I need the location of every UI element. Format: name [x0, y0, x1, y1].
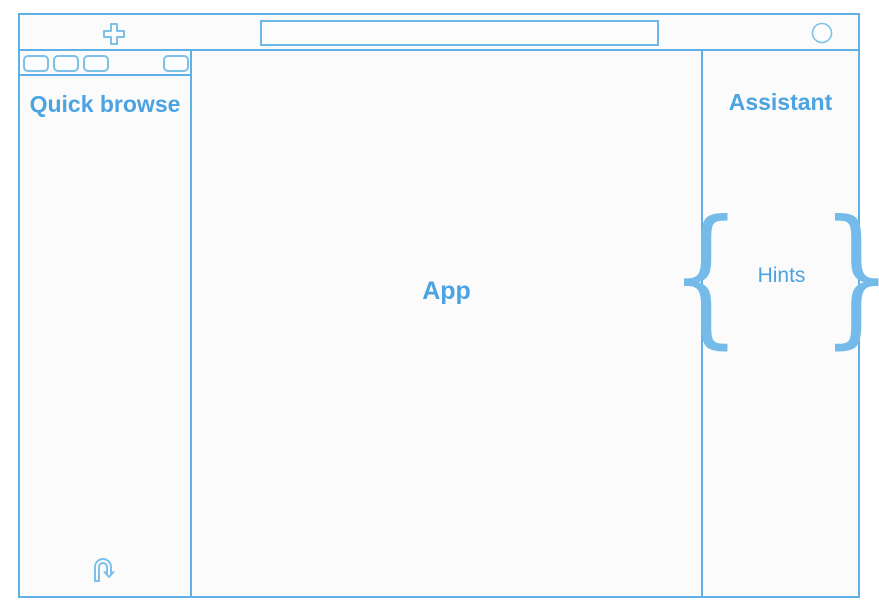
assistant-panel: Assistant { Hints }	[703, 51, 858, 596]
sidebar-toolbar	[20, 51, 190, 76]
undo-uturn-arrow-icon[interactable]	[90, 554, 122, 584]
top-bar	[20, 15, 858, 51]
sidebar-tool-1-button[interactable]	[23, 55, 49, 72]
sidebar-tool-4-button[interactable]	[163, 55, 189, 72]
sidebar-panel: Quick browse	[20, 51, 192, 596]
plus-icon[interactable]	[102, 22, 126, 46]
window-body: Quick browse App Assistant { Hints	[20, 51, 858, 596]
hints-label: Hints	[754, 264, 810, 288]
sidebar-tool-3-button[interactable]	[83, 55, 109, 72]
sidebar-title: Quick browse	[20, 89, 190, 119]
assistant-title: Assistant	[703, 89, 858, 116]
hints-group: { Hints }	[713, 206, 850, 346]
sidebar-tool-2-button[interactable]	[53, 55, 79, 72]
app-canvas[interactable]: App	[192, 51, 703, 596]
app-label: App	[422, 277, 471, 306]
search-input[interactable]	[260, 20, 659, 46]
wireframe-window: Quick browse App Assistant { Hints	[18, 13, 860, 598]
circle-avatar-icon[interactable]	[811, 22, 833, 44]
